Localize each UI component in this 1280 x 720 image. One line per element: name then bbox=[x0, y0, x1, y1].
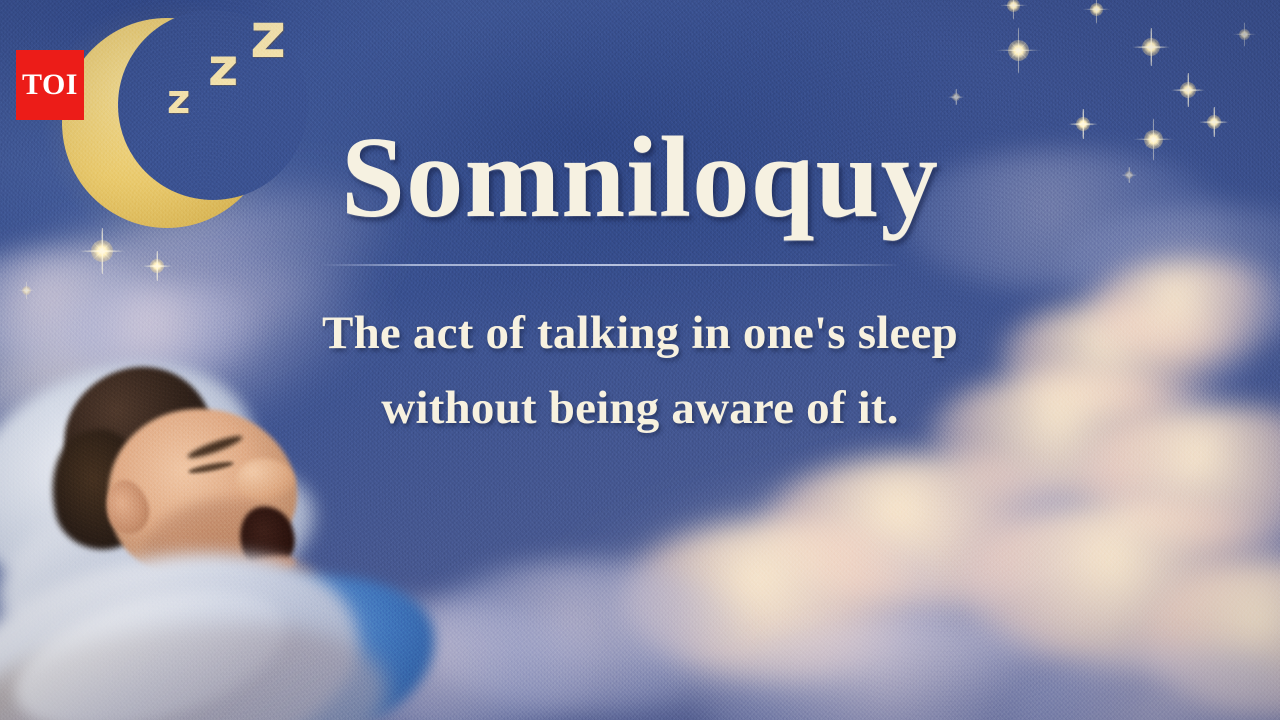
toi-logo-text: TOI bbox=[22, 70, 78, 100]
toi-logo[interactable]: TOI bbox=[16, 50, 84, 120]
definition-line-2: without being aware of it. bbox=[0, 371, 1280, 446]
page-title: Somniloquy bbox=[0, 120, 1280, 235]
title-divider bbox=[320, 264, 900, 266]
word-of-the-day-card: z z z bbox=[0, 0, 1280, 720]
definition-line-1: The act of talking in one's sleep bbox=[0, 296, 1280, 371]
definition-text: The act of talking in one's sleep withou… bbox=[0, 296, 1280, 446]
